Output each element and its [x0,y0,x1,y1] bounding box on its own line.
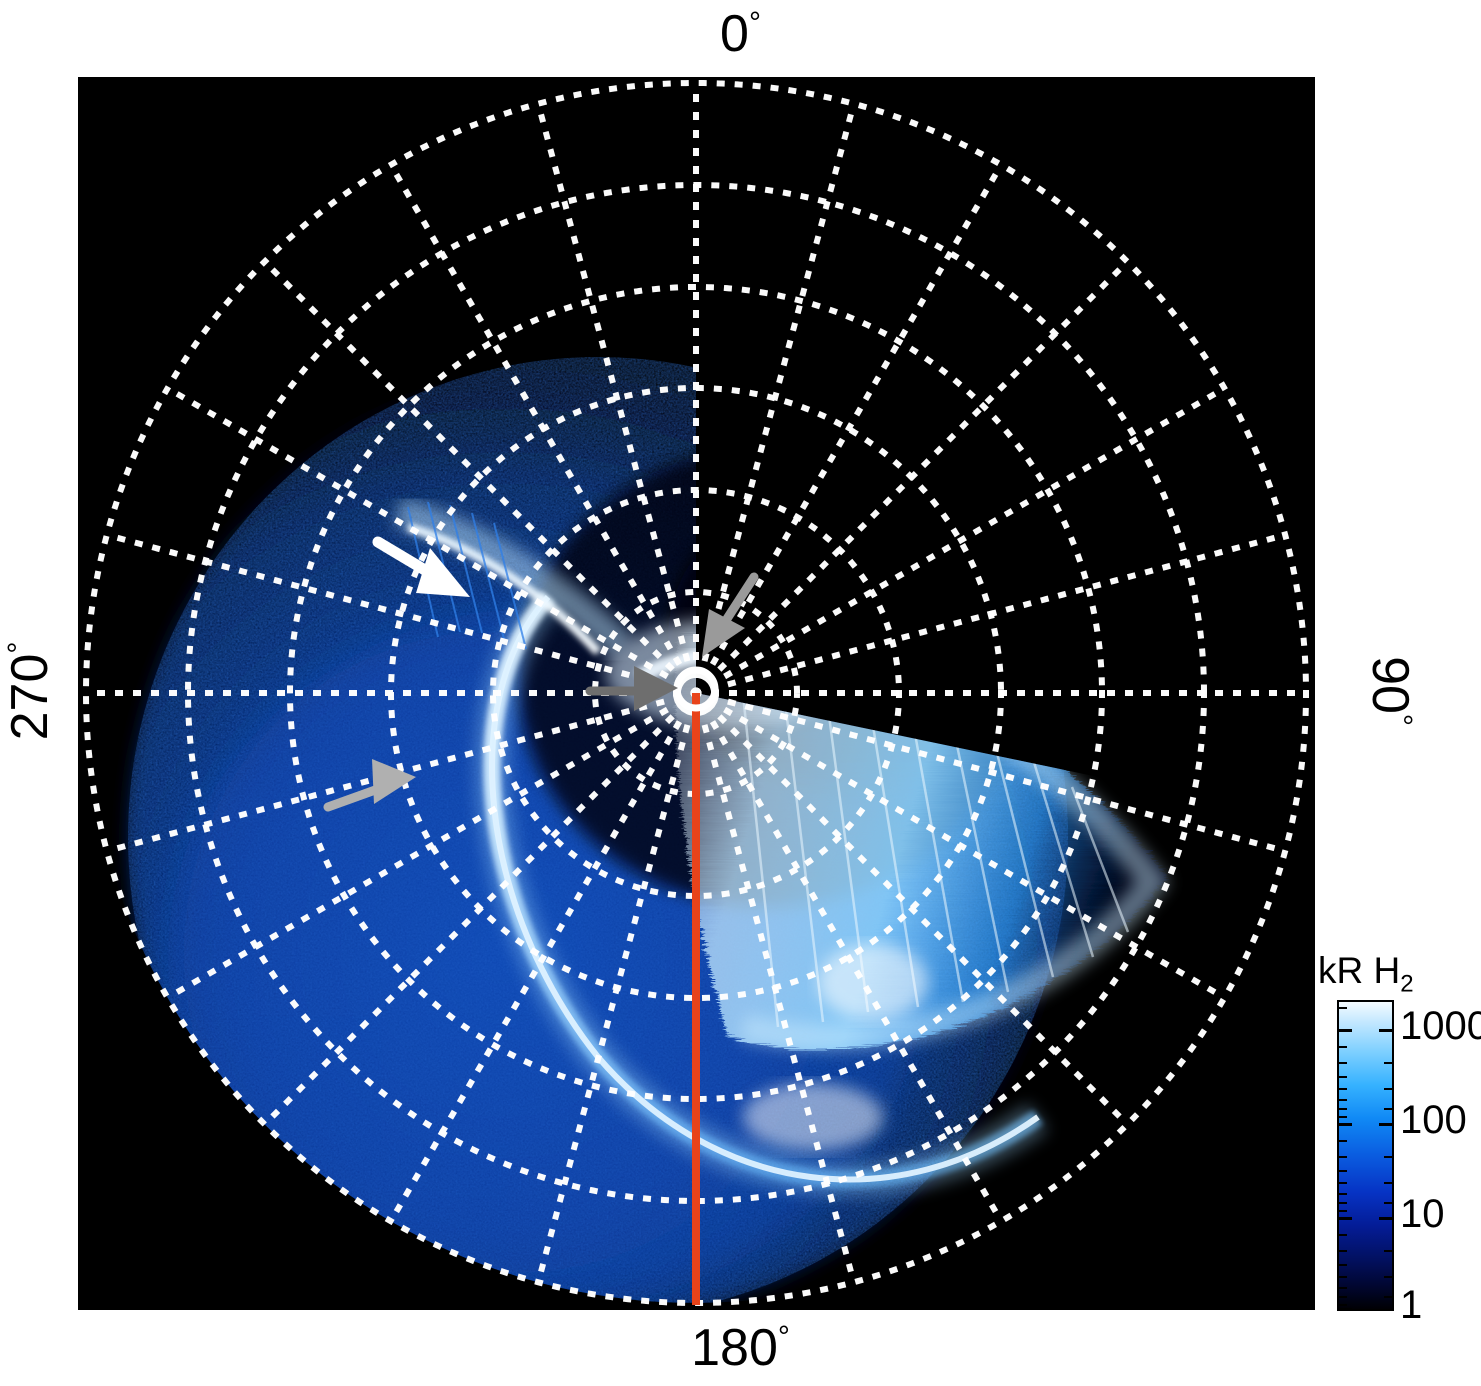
colorbar-title: kR H2 [1318,950,1414,992]
colorbar-tick-10 [1337,1217,1352,1220]
axis-label-right: 90° [1364,601,1416,781]
colorbar-minor-tick [1337,1170,1347,1172]
colorbar-minor-tick [1337,1193,1347,1195]
colorbar-minor-tick [1337,1202,1347,1204]
colorbar-minor-tick [1384,1182,1394,1184]
colorbar [1337,1000,1394,1311]
colorbar-minor-tick [1337,1116,1347,1118]
colorbar-minor-tick [1384,1108,1394,1110]
axis-label-left: 270° [4,601,56,781]
colorbar-tick-100 [1337,1123,1352,1126]
colorbar-minor-tick [1384,1156,1394,1158]
colorbar-minor-tick [1337,1076,1347,1078]
colorbar-minor-tick [1337,1046,1347,1048]
polar-plot-panel [78,77,1315,1310]
colorbar-minor-tick [1337,1304,1347,1306]
colorbar-label-1: 1 [1400,1283,1422,1328]
axis-label-top: 0° [0,8,1481,60]
colorbar-minor-tick [1337,1250,1347,1252]
colorbar-minor-tick [1337,1099,1347,1101]
aurora-image [78,77,1315,1310]
colorbar-minor-tick [1337,1007,1347,1009]
colorbar-tick-1 [1337,1308,1352,1311]
colorbar-tick-1000-right [1379,1029,1394,1032]
aurora-polar-figure: 0° 180° 270° 90° [0,0,1481,1386]
colorbar-minor-tick [1337,1287,1347,1289]
axis-label-bottom: 180° [0,1322,1481,1374]
colorbar-minor-tick [1337,1210,1347,1212]
colorbar-minor-tick [1384,1250,1394,1252]
colorbar-tick-1000 [1337,1029,1352,1032]
colorbar-minor-tick [1337,1276,1347,1278]
colorbar-minor-tick [1337,1264,1347,1266]
colorbar-tick-10-right [1379,1217,1394,1220]
colorbar-minor-tick [1384,1276,1394,1278]
colorbar-label-100: 100 [1400,1098,1467,1143]
colorbar-label-10: 10 [1400,1192,1445,1237]
colorbar-minor-tick [1384,1062,1394,1064]
colorbar-minor-tick [1337,1182,1347,1184]
colorbar-minor-tick [1337,1234,1347,1236]
colorbar-minor-tick [1337,1088,1347,1090]
colorbar-minor-tick [1384,1296,1394,1298]
colorbar-minor-tick [1337,1140,1347,1142]
colorbar-minor-tick [1384,1202,1394,1204]
colorbar-label-1000: 1000 [1400,1004,1481,1049]
colorbar-minor-tick [1337,1062,1347,1064]
colorbar-tick-100-right [1379,1123,1394,1126]
colorbar-minor-tick [1337,1108,1347,1110]
colorbar-minor-tick [1337,1156,1347,1158]
colorbar-minor-tick [1384,1088,1394,1090]
colorbar-minor-tick [1337,1296,1347,1298]
